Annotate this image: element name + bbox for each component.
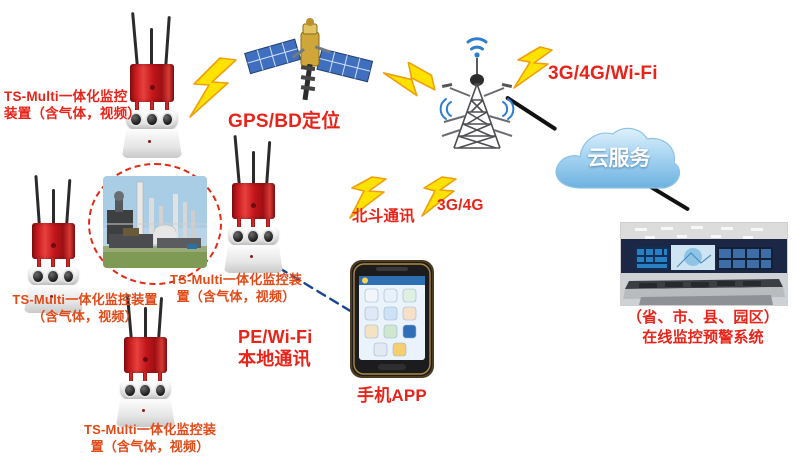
antenna: [164, 16, 171, 70]
antenna: [252, 151, 255, 187]
bolt-satellite-tower-icon: [378, 62, 442, 120]
indicator-dot: [250, 255, 253, 258]
sensor-port: [64, 271, 73, 282]
device-head: [124, 337, 167, 373]
label-3g4g: 3G/4G: [437, 196, 484, 216]
label-gps-bd: GPS/BD定位: [228, 110, 340, 134]
control-room-photo: [620, 222, 788, 306]
sensor-port: [248, 231, 258, 242]
device-head: [32, 223, 75, 259]
indicator-dot: [148, 140, 151, 143]
label-pe-wifi: PE/Wi-Fi 本地通讯: [238, 327, 312, 370]
label-control-center: （省、市、县、园区） 在线监控预警系统: [608, 308, 797, 347]
antenna: [233, 135, 241, 187]
indicator-dot: [142, 409, 145, 412]
label-device-bottom: TS-Multi一体化监控装 置（含气体，视频）: [70, 422, 230, 455]
antenna: [65, 179, 71, 227]
industrial-plant-photo: [103, 176, 207, 268]
sensor-port: [33, 271, 43, 282]
device-cone-base: [122, 129, 182, 158]
antenna: [131, 12, 139, 68]
diagram-canvas: 云服务: [0, 0, 797, 464]
antenna: [52, 189, 55, 227]
sensor-port: [264, 231, 273, 242]
satellite-icon: [243, 8, 375, 108]
label-device-mid-right: TS-Multi一体化监控装 置（含气体，视频）: [160, 272, 312, 305]
sensor-port: [140, 385, 150, 396]
cloud-label: 云服务: [563, 142, 675, 172]
label-mobile-app: 手机APP: [357, 385, 427, 407]
device-cone-base: [224, 245, 283, 273]
sensor-port: [233, 231, 243, 242]
label-device-mid-left: TS-Multi一体化监控装置 （含气体，视频）: [4, 292, 166, 325]
sensor-port: [156, 385, 165, 396]
label-3g4g-wifi: 3G/4G/Wi-Fi: [548, 62, 658, 86]
mobile-app-device-icon[interactable]: [348, 258, 436, 380]
label-beidou: 北斗通讯: [352, 207, 415, 227]
device-head: [232, 183, 275, 219]
antenna: [34, 175, 41, 227]
monitoring-device-3: [212, 135, 304, 275]
sensor-port: [163, 114, 172, 125]
antenna: [265, 141, 271, 187]
monitoring-device-1: [110, 12, 202, 162]
label-device-top-left: TS-Multi一体化监控 装置（含气体，视频）: [4, 88, 154, 123]
sensor-port: [48, 271, 58, 282]
sensor-port: [125, 385, 135, 396]
